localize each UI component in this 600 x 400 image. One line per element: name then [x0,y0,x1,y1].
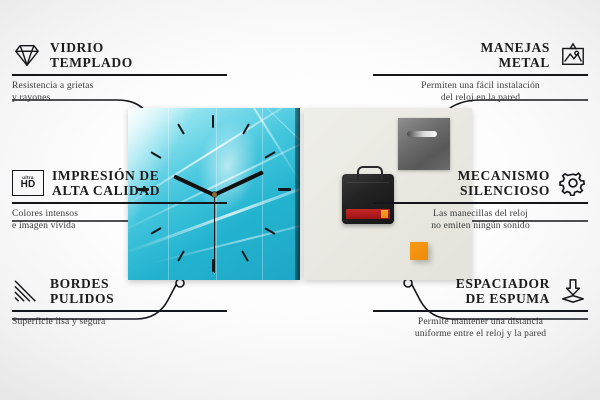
infographic-canvas: VIDRIO TEMPLADO Resistencia a grietas y … [0,0,600,400]
feature-title: MECANISMO SILENCIOSO [458,168,550,198]
feature-manejas-metal: MANEJAS METAL Permiten una fácil instala… [373,40,588,105]
feature-mecanismo-silencioso: MECANISMO SILENCIOSO Las manecillas del … [373,168,588,233]
feature-body: Resistencia a grietas y rayones [12,80,227,105]
divider [373,310,588,312]
hanger-slot [407,131,437,137]
clock-tick [278,188,291,191]
divider [12,202,227,204]
feature-title: MANEJAS METAL [481,40,550,70]
feature-vidrio-templado: VIDRIO TEMPLADO Resistencia a grietas y … [12,40,227,105]
divider [373,74,588,76]
feature-espaciador-espuma: ESPACIADOR DE ESPUMA Permite mantener un… [373,276,588,341]
clock-tick [241,250,249,261]
feature-title: IMPRESIÓN DE ALTA CALIDAD [52,168,160,198]
clock-tick [177,250,185,261]
glass-edge [295,108,300,280]
clock-tick [150,151,161,159]
arrow-down-pad-icon [558,278,588,304]
foam-spacer [410,242,428,260]
glass-band [262,108,263,280]
feature-body: Las manecillas del reloj no emiten ningú… [373,208,588,233]
divider [12,74,227,76]
feature-body: Superficie lisa y segura [12,316,227,328]
feature-title: BORDES PULIDOS [50,276,114,306]
framed-picture-hanger-icon [558,42,588,68]
diagonal-lines-icon [12,278,42,304]
feature-title: VIDRIO TEMPLADO [50,40,133,70]
metal-hanger-plate [398,118,450,170]
divider [373,202,588,204]
diamond-icon [12,42,42,68]
feature-body: Permite mantener una distancia uniforme … [373,316,588,341]
feature-body: Permiten una fácil instalación del reloj… [373,80,588,105]
feature-title: ESPACIADOR DE ESPUMA [456,276,550,306]
divider [12,310,227,312]
feature-bordes-pulidos: BORDES PULIDOS Superficie lisa y segura [12,276,227,328]
ultra-hd-icon: ultra HD [12,170,44,196]
feature-body: Colores intensos e imagen vívida [12,208,227,233]
feature-impresion-alta-calidad: ultra HD IMPRESIÓN DE ALTA CALIDAD Color… [12,168,227,233]
gear-icon [558,170,588,196]
